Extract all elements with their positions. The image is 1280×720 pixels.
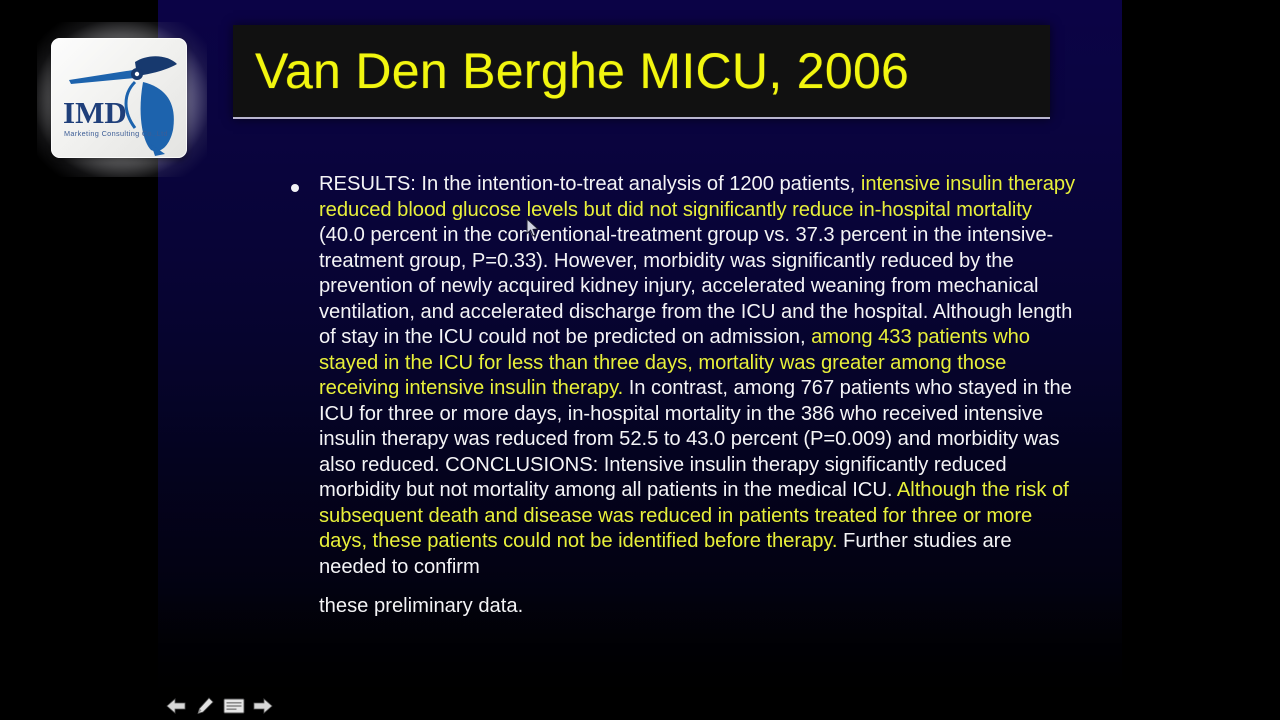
right-arrow-icon bbox=[253, 698, 273, 714]
segment-results-intro: RESULTS: In the intention-to-treat analy… bbox=[319, 173, 861, 195]
company-logo: IMD Marketing Consulting Co.,Ltd bbox=[51, 38, 187, 158]
slide-body: RESULTS: In the intention-to-treat analy… bbox=[291, 172, 1081, 620]
abstract-tail-line: these preliminary data. bbox=[319, 594, 1081, 620]
slideshow-navigation-toolbar bbox=[165, 696, 274, 716]
slide-title-box: Van Den Berghe MICU, 2006 bbox=[233, 25, 1050, 119]
previous-slide-button[interactable] bbox=[165, 697, 187, 715]
menu-icon bbox=[223, 698, 245, 714]
abstract-paragraph: RESULTS: In the intention-to-treat analy… bbox=[319, 172, 1081, 580]
pen-icon bbox=[196, 697, 214, 715]
next-slide-button[interactable] bbox=[252, 697, 274, 715]
logo-tagline: Marketing Consulting Co.,Ltd bbox=[64, 129, 168, 138]
bullet-icon bbox=[291, 184, 299, 192]
logo-wordmark: IMD bbox=[63, 97, 127, 128]
pen-tool-button[interactable] bbox=[194, 697, 216, 715]
page-title: Van Den Berghe MICU, 2006 bbox=[233, 42, 909, 100]
left-arrow-icon bbox=[166, 698, 186, 714]
presentation-viewer: Van Den Berghe MICU, 2006 RESULTS: In th… bbox=[0, 0, 1280, 720]
slide-canvas: Van Den Berghe MICU, 2006 RESULTS: In th… bbox=[158, 0, 1122, 720]
notes-menu-button[interactable] bbox=[223, 697, 245, 715]
